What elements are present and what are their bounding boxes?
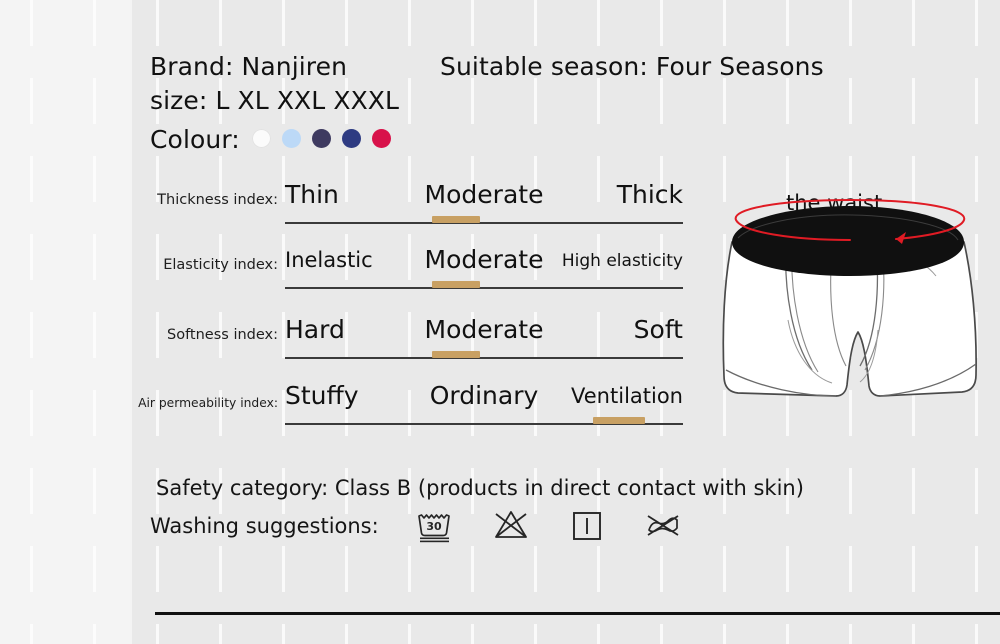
index-track [285, 357, 683, 359]
index-label: Air permeability index: [138, 396, 278, 410]
index-option-high[interactable]: High elasticity [562, 241, 683, 281]
index-option-mid[interactable]: Ordinary [430, 377, 539, 415]
svg-text:30: 30 [426, 520, 442, 533]
bottom-divider [155, 612, 1000, 615]
colour-swatch-crimson-red[interactable] [372, 129, 391, 148]
index-marker [432, 351, 480, 358]
do-not-wring-icon [643, 506, 683, 544]
index-options: Thin Moderate Thick [285, 176, 683, 222]
safety-category-label: Safety category: Class B (products in di… [156, 476, 804, 500]
do-not-bleach-icon [491, 506, 531, 544]
index-marker [432, 281, 480, 288]
wash-care-symbol-list: 30 [415, 506, 683, 544]
index-option-low[interactable]: Thin [285, 176, 339, 214]
index-option-low[interactable]: Stuffy [285, 377, 359, 415]
index-track [285, 287, 683, 289]
index-label: Elasticity index: [163, 257, 278, 273]
index-label: Softness index: [167, 327, 278, 343]
index-label: Thickness index: [157, 192, 278, 208]
colour-swatch-navy-blue[interactable] [342, 129, 361, 148]
index-option-high[interactable]: Thick [617, 176, 683, 214]
index-track [285, 222, 683, 224]
colour-swatch-dark-purple[interactable] [312, 129, 331, 148]
index-options: Hard Moderate Soft [285, 311, 683, 357]
colour-swatch-white[interactable] [252, 129, 271, 148]
washing-suggestions-label: Washing suggestions: [150, 514, 379, 538]
boxer-brief-illustration [700, 180, 1000, 442]
index-options: Inelastic Moderate High elasticity [285, 241, 683, 287]
wash-30-gentle-icon: 30 [415, 506, 455, 544]
index-option-mid[interactable]: Moderate [425, 176, 544, 214]
index-option-low[interactable]: Inelastic [285, 241, 373, 280]
colour-swatch-light-blue[interactable] [282, 129, 301, 148]
season-label: Suitable season: Four Seasons [440, 52, 824, 81]
size-label: size: L XL XXL XXXL [150, 86, 399, 115]
brand-label: Brand: Nanjiren [150, 52, 347, 81]
drip-dry-shade-icon [567, 506, 607, 544]
index-option-high[interactable]: Soft [634, 311, 683, 349]
index-option-mid[interactable]: Moderate [425, 241, 544, 279]
index-option-mid[interactable]: Moderate [425, 311, 544, 349]
colour-swatch-list [252, 129, 391, 148]
colour-label: Colour: [150, 125, 240, 154]
index-option-high[interactable]: Ventilation [571, 377, 683, 416]
index-marker [432, 216, 480, 223]
index-marker [593, 417, 645, 424]
index-option-low[interactable]: Hard [285, 311, 345, 349]
